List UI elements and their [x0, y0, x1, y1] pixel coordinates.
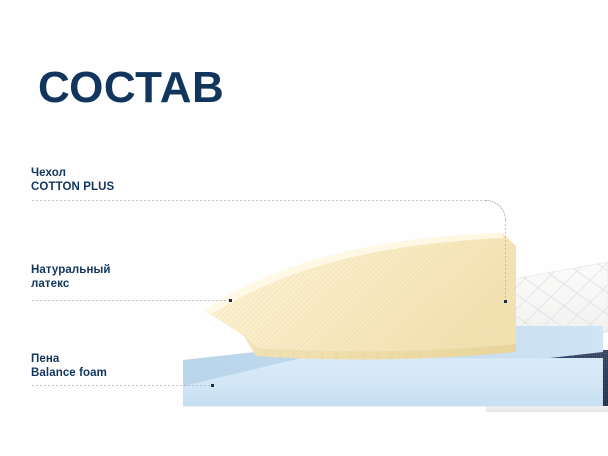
mattress-bottom-edge	[486, 406, 608, 412]
latex-layer	[196, 232, 516, 362]
label-foam-line1: Пена	[31, 352, 107, 366]
label-cover-line2: COTTON PLUS	[31, 180, 114, 194]
label-latex-line2: латекс	[31, 277, 111, 291]
label-latex-line1: Натуральный	[31, 263, 111, 277]
label-cover: Чехол COTTON PLUS	[31, 166, 114, 194]
mattress-side-band	[486, 350, 608, 408]
cover-leader-line-vertical	[505, 219, 506, 301]
label-foam: Пена Balance foam	[31, 352, 107, 380]
illustration-canvas: DIMAX	[0, 0, 608, 456]
latex-leader-endpoint	[229, 299, 232, 302]
foam-layer-front-face	[183, 358, 603, 414]
brand-logo-badge: DIMAX	[547, 354, 573, 367]
label-latex: Натуральный латекс	[31, 263, 111, 291]
brand-logo-text: DIMAX	[553, 359, 566, 363]
label-foam-line2: Balance foam	[31, 366, 107, 380]
cover-leader-line-corner	[486, 200, 506, 220]
latex-leader-line	[31, 300, 229, 301]
foam-leader-endpoint	[211, 384, 214, 387]
page-title: СОСТАВ	[38, 66, 224, 110]
cover-leader-line-horizontal	[31, 200, 486, 201]
side-band-shading	[486, 350, 608, 408]
cover-leader-endpoint	[504, 300, 507, 303]
foam-layer-top-face	[183, 326, 603, 386]
label-cover-line1: Чехол	[31, 166, 114, 180]
foam-leader-line	[31, 385, 211, 386]
